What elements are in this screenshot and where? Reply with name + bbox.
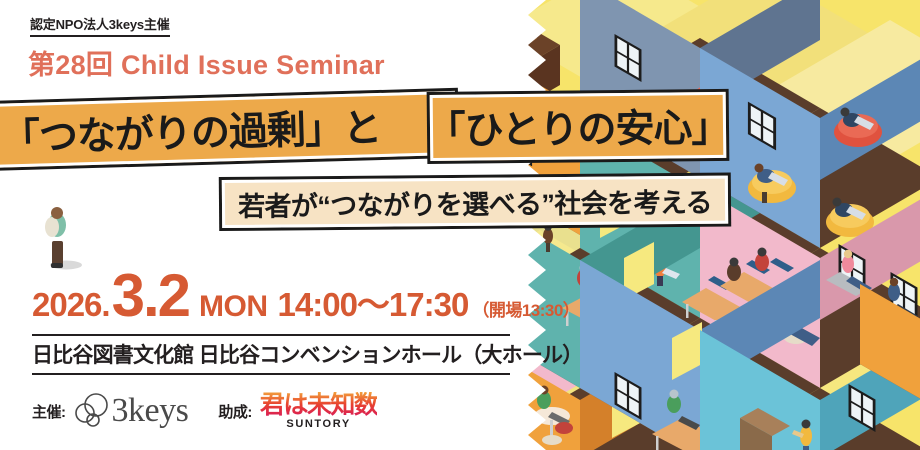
event-time: 14:00〜17:30 <box>278 278 469 326</box>
event-date-line: 2026. 3.2 MON 14:00〜17:30 （開場13:30） <box>32 272 579 326</box>
event-venue: 日比谷図書文化館 日比谷コンベンションホール（大ホール） <box>32 334 510 375</box>
standing-person-icon <box>30 205 90 277</box>
3keys-logo: 3keys <box>74 391 189 431</box>
title-bar-secondary: 「ひとりの安心」 <box>430 92 727 161</box>
organizer-label: 主催: <box>32 401 66 422</box>
3keys-wordmark: 3keys <box>112 392 189 430</box>
event-day-of-week: MON <box>199 290 268 324</box>
suntory-kimi-wordmark: 君は未知数 <box>260 392 378 418</box>
event-year: 2026. <box>32 286 110 324</box>
suntory-logo: 君は未知数 SUNTORY <box>260 392 378 429</box>
host-line: 認定NPO法人3keys主催 <box>30 14 170 37</box>
footer-logos: 主催: 3keys 助成: 君は未知数 SUNTORY <box>32 383 512 439</box>
suntory-grant-block: 助成: 君は未知数 SUNTORY <box>218 392 377 429</box>
event-month-day: 3.2 <box>112 272 189 320</box>
seminar-title: 第28回 Child Issue Seminar <box>28 43 385 82</box>
suntory-wordmark: SUNTORY <box>260 418 378 430</box>
grant-label: 助成: <box>218 401 252 422</box>
title-bar-primary: 「つながりの過剰」と <box>0 91 457 168</box>
3keys-circles-icon <box>74 391 110 431</box>
event-doors-open: （開場13:30） <box>472 296 579 321</box>
event-banner: 認定NPO法人3keys主催 第28回 Child Issue Seminar … <box>0 0 920 450</box>
title-bar-subtitle: 若者が“つながりを選べる”社会を考える <box>222 176 728 228</box>
